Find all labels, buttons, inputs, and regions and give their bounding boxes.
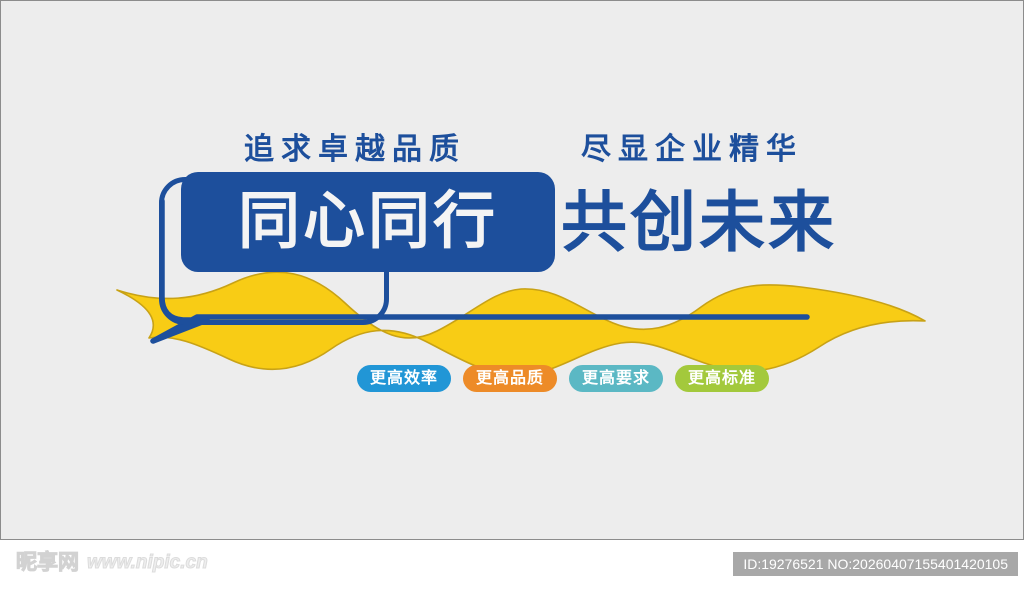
watermark-logo-url: www.nipic.cn: [87, 553, 208, 572]
pill-efficiency: 更高效率: [357, 365, 451, 392]
yellow-wave-ribbon: [117, 272, 925, 375]
watermark-id-badge: ID:19276521 NO:20260407155401420105: [733, 552, 1018, 576]
decorative-artwork: [1, 1, 1024, 540]
watermark-logo-text: 昵享网: [16, 552, 79, 573]
pill-row: 更高效率 更高品质 更高要求 更高标准: [357, 365, 769, 392]
pill-requirement: 更高要求: [569, 365, 663, 392]
screenshot-canvas: 追求卓越品质 尽显企业精华 同心同行 共创未来 更高效率 更高品质 更高要求: [0, 0, 1024, 593]
pill-standard: 更高标准: [675, 365, 769, 392]
artboard: 追求卓越品质 尽显企业精华 同心同行 共创未来 更高效率 更高品质 更高要求: [0, 0, 1024, 540]
pill-quality: 更高品质: [463, 365, 557, 392]
watermark-logo: 昵享网 www.nipic.cn: [16, 552, 208, 573]
